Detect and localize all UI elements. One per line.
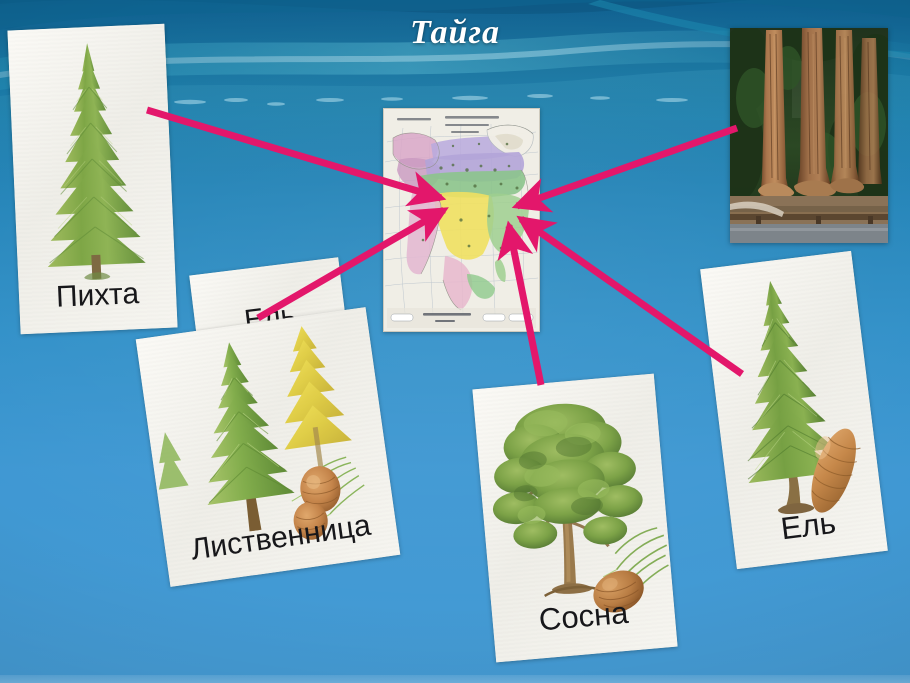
card-larch[interactable]: Лиственница (136, 307, 401, 587)
card-pine[interactable]: Сосна (472, 374, 677, 663)
slide-canvas: Тайга (0, 0, 910, 683)
sequoia-trunks-photo[interactable] (730, 28, 888, 243)
north-america-taiga-map[interactable] (383, 108, 540, 332)
card-caption-fir: Пихта (18, 275, 176, 316)
slide-bottom-edge (0, 675, 910, 683)
card-fir[interactable]: Пихта (7, 24, 177, 335)
